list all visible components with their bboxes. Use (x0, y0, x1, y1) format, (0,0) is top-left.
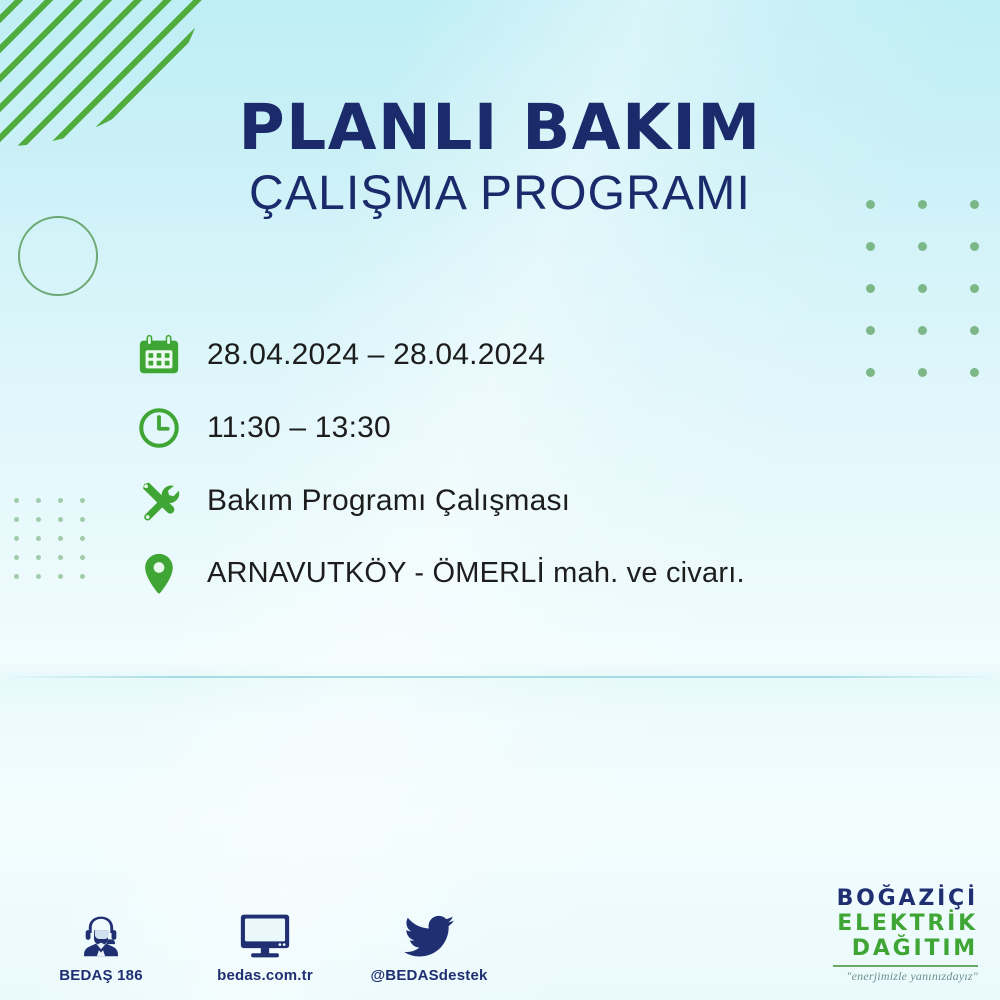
outage-details-list: 28.04.2024 – 28.04.2024 11:30 – 13:30 (133, 318, 933, 610)
contact-website[interactable]: bedas.com.tr (206, 904, 324, 984)
title-subtitle-text: ÇALIŞMA PROGRAMI (0, 166, 1000, 223)
bedas-logo: BOĞAZİÇİ ELEKTRİK DAĞITIM "enerjimizle y… (833, 888, 978, 982)
contact-twitter[interactable]: @BEDASdestek (370, 904, 488, 984)
logo-line-dagitim: DAĞITIM (833, 938, 978, 960)
detail-row-location: ARNAVUTKÖY - ÖMERLİ mah. ve civarı. (133, 537, 933, 610)
page-title: PLANLI BAKIM ÇALIŞMA PROGRAMI (0, 96, 1000, 223)
calendar-icon (133, 329, 185, 381)
location-pin-icon (133, 548, 185, 600)
logo-tagline: "enerjimizle yanınızdayız" (833, 970, 978, 982)
detail-date-text: 28.04.2024 – 28.04.2024 (207, 338, 545, 372)
footer-contacts: BEDAŞ 186 bedas.com.tr @B (42, 904, 488, 984)
dot-grid-left-decoration (14, 498, 102, 593)
contact-website-label: bedas.com.tr (206, 967, 324, 984)
detail-time-text: 11:30 – 13:30 (207, 411, 391, 445)
twitter-bird-icon (370, 904, 488, 960)
monitor-icon (206, 904, 324, 960)
title-main-text: PLANLI BAKIM (0, 96, 1000, 160)
contact-phone-label: BEDAŞ 186 (42, 967, 160, 984)
circle-outline-decoration (18, 216, 98, 296)
detail-row-worktype: Bakım Programı Çalışması (133, 464, 933, 537)
detail-row-time: 11:30 – 13:30 (133, 391, 933, 464)
logo-divider (833, 965, 978, 967)
contact-phone[interactable]: BEDAŞ 186 (42, 904, 160, 984)
planned-maintenance-poster: PLANLI BAKIM ÇALIŞMA PROGRAMI (0, 0, 1000, 1000)
tools-icon (133, 475, 185, 527)
detail-location-text: ARNAVUTKÖY - ÖMERLİ mah. ve civarı. (207, 557, 745, 590)
logo-line-bogazici: BOĞAZİÇİ (833, 888, 978, 910)
detail-row-date: 28.04.2024 – 28.04.2024 (133, 318, 933, 391)
call-center-agent-icon (42, 904, 160, 960)
horizontal-divider-band (0, 676, 1000, 678)
contact-twitter-label: @BEDASdestek (370, 967, 488, 984)
logo-line-elektrik: ELEKTRİK (833, 913, 978, 935)
detail-worktype-text: Bakım Programı Çalışması (207, 484, 570, 518)
clock-icon (133, 402, 185, 454)
